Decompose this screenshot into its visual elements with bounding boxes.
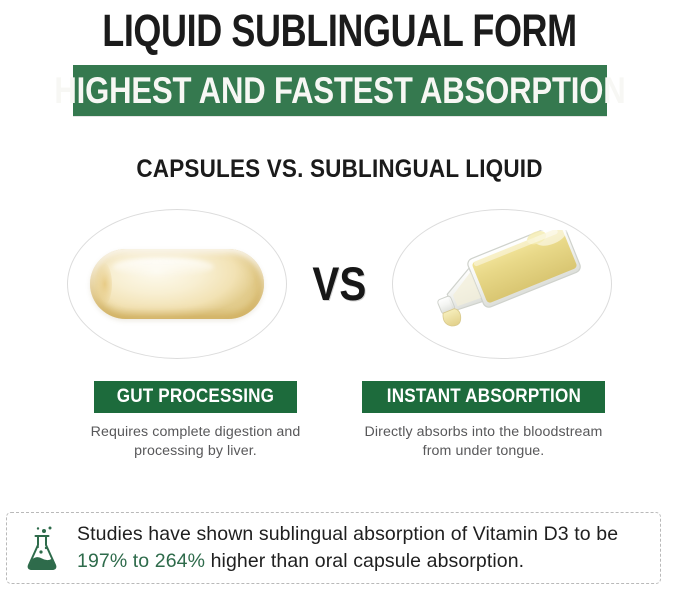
page-title: LIQUID SUBLINGUAL FORM — [68, 6, 611, 56]
capsule-panel — [52, 206, 303, 361]
dropper-label-column: INSTANT ABSORPTION Directly absorbs into… — [340, 381, 628, 461]
study-callout-text: Studies have shown sublingual absorption… — [77, 521, 660, 575]
callout-text-after: higher than oral capsule absorption. — [205, 550, 524, 572]
dropper-svg — [426, 230, 594, 338]
dropper-caption: Directly absorbs into the bloodstream fr… — [340, 423, 628, 461]
badge-gut-processing: GUT PROCESSING — [94, 381, 297, 413]
labels-row: GUT PROCESSING Requires complete digesti… — [0, 381, 679, 461]
flask-liquid — [29, 557, 55, 569]
callout-text-before: Studies have shown sublingual absorption… — [77, 523, 618, 545]
comparison-row: VS — [0, 206, 679, 361]
dropper-panel — [377, 206, 628, 361]
comparison-subtitle: CAPSULES VS. SUBLINGUAL LIQUID — [34, 157, 645, 182]
flask-icon-container — [7, 524, 77, 572]
capsule-label-column: GUT PROCESSING Requires complete digesti… — [52, 381, 340, 461]
capsule-caption-line-1: Requires complete digestion and — [52, 423, 340, 442]
capsule-caption: Requires complete digestion and processi… — [52, 423, 340, 461]
flask-icon — [23, 524, 61, 572]
flask-bubbles — [37, 527, 52, 554]
dropper-caption-line-1: Directly absorbs into the bloodstream — [340, 423, 628, 442]
vs-divider: VS — [303, 260, 377, 307]
headline-banner-text: HIGHEST AND FASTEST ABSORPTION — [54, 72, 625, 109]
callout-stat-value: 197% to 264% — [77, 550, 205, 572]
headline-banner: HIGHEST AND FASTEST ABSORPTION — [73, 65, 607, 116]
study-callout-box: Studies have shown sublingual absorption… — [6, 512, 661, 584]
dropper-caption-line-2: from under tongue. — [340, 442, 628, 461]
vs-label: VS — [313, 260, 367, 307]
header: LIQUID SUBLINGUAL FORM HIGHEST AND FASTE… — [0, 0, 679, 116]
softgel-capsule-image — [90, 249, 264, 319]
capsule-caption-line-2: processing by liver. — [52, 442, 340, 461]
liquid-dropper-image — [402, 214, 602, 354]
badge-instant-absorption-text: INSTANT ABSORPTION — [386, 387, 580, 406]
badge-gut-processing-text: GUT PROCESSING — [117, 387, 274, 406]
badge-instant-absorption: INSTANT ABSORPTION — [362, 381, 606, 413]
